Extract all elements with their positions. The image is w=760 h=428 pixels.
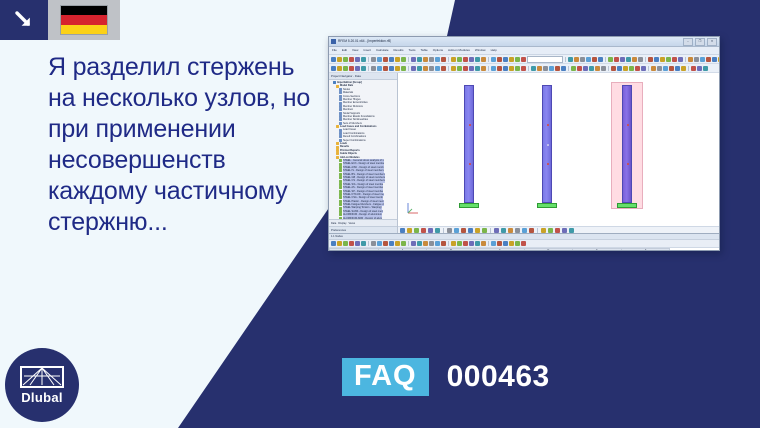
toolbar-icon[interactable]: [355, 57, 360, 62]
toolbar-icon[interactable]: [451, 57, 456, 62]
toolbar-icon[interactable]: [663, 66, 668, 71]
toolbar-icon[interactable]: [349, 241, 354, 246]
col-letter: D: [524, 249, 573, 252]
toolbar-icon[interactable]: [441, 57, 446, 62]
toolbar-icon[interactable]: [660, 57, 665, 62]
col-letter: C: [475, 249, 524, 252]
toolbar-icon[interactable]: [371, 66, 376, 71]
toolbar-icon[interactable]: [337, 57, 342, 62]
toolbar-separator: [368, 57, 369, 62]
german-flag-icon: [60, 5, 108, 35]
toolbar-icon[interactable]: [428, 228, 433, 233]
toolbar-icon[interactable]: [712, 57, 717, 62]
toolbar-icon[interactable]: [577, 66, 582, 71]
toolbar-combo[interactable]: [527, 56, 563, 63]
toolbar-icon[interactable]: [383, 241, 388, 246]
toolbar-icon[interactable]: [469, 66, 474, 71]
rc-icon: [339, 135, 342, 138]
main-toolbar[interactable]: [329, 55, 719, 64]
toolbar-icon[interactable]: [574, 57, 579, 62]
navigator-tab-display[interactable]: Display: [338, 222, 346, 225]
toolbar-icon[interactable]: [623, 66, 628, 71]
close-button[interactable]: ✕: [707, 38, 717, 46]
menu-item-file[interactable]: File: [332, 47, 337, 54]
toolbar-icon[interactable]: [626, 57, 631, 62]
toolbar-icon[interactable]: [441, 66, 446, 71]
minimize-button[interactable]: –: [683, 38, 693, 46]
toolbar-separator: [608, 66, 609, 71]
toolbar-separator: [368, 66, 369, 71]
node-marker: [627, 124, 629, 126]
toolbar-icon[interactable]: [651, 66, 656, 71]
toolbar-icon[interactable]: [509, 57, 514, 62]
module-icon: [339, 169, 342, 172]
toolbar-icon[interactable]: [411, 66, 416, 71]
toolbar-icon[interactable]: [703, 66, 708, 71]
toolbar-separator: [488, 57, 489, 62]
toolbar-icon[interactable]: [617, 66, 622, 71]
navigator-tab-data[interactable]: Data: [331, 222, 336, 225]
toolbar-icon[interactable]: [503, 57, 508, 62]
toolbar-icon[interactable]: [463, 66, 468, 71]
toolbar-icon[interactable]: [672, 57, 677, 62]
toolbar-icon[interactable]: [543, 66, 548, 71]
toolbar-separator: [408, 66, 409, 71]
toolbar-icon[interactable]: [611, 66, 616, 71]
toolbar-icon[interactable]: [411, 57, 416, 62]
toolbar-icon[interactable]: [361, 241, 366, 246]
toolbar-icon[interactable]: [377, 57, 382, 62]
module-icon: [339, 186, 342, 189]
toolbar-icon[interactable]: [481, 57, 486, 62]
toolbar-icon[interactable]: [654, 57, 659, 62]
toolbar-icon[interactable]: [401, 66, 406, 71]
toolbar-icon[interactable]: [522, 228, 527, 233]
toolbar-separator: [448, 57, 449, 62]
toolbar-icon[interactable]: [475, 228, 480, 233]
toolbar-separator: [648, 66, 649, 71]
folder-icon: [336, 125, 339, 128]
column-member-3[interactable]: [622, 85, 637, 208]
toolbar-icon[interactable]: [515, 228, 520, 233]
toolbar-icon[interactable]: [337, 241, 342, 246]
toolbar-icon[interactable]: [666, 57, 671, 62]
toolbar-icon[interactable]: [503, 66, 508, 71]
toolbar-icon[interactable]: [343, 241, 348, 246]
view-toolbar[interactable]: [398, 226, 719, 233]
nodes-table[interactable]: ABCDEFNode No.Reference NodeCoordinate S…: [329, 248, 719, 251]
toolbar-icon[interactable]: [537, 66, 542, 71]
toolbar-icon[interactable]: [441, 241, 446, 246]
toolbar-icon[interactable]: [389, 241, 394, 246]
toolbar-separator: [448, 66, 449, 71]
navigator-tabs[interactable]: DataDisplayViews: [329, 219, 397, 226]
toolbar-icon[interactable]: [697, 66, 702, 71]
toolbar-icon[interactable]: [641, 66, 646, 71]
toolbar-icon[interactable]: [497, 241, 502, 246]
toolbar-icon[interactable]: [429, 57, 434, 62]
toolbar-separator: [565, 57, 566, 62]
menu-item-calculate[interactable]: Calculate: [376, 47, 389, 54]
toolbar-icon[interactable]: [461, 228, 466, 233]
toolbar-icon[interactable]: [435, 57, 440, 62]
toolbar-icon[interactable]: [589, 66, 594, 71]
col-letter: F: [621, 249, 670, 252]
toolbar-icon[interactable]: [569, 228, 574, 233]
toolbar-icon[interactable]: [447, 228, 452, 233]
dlubal-frame-icon: [20, 366, 64, 388]
toolbar-icon[interactable]: [681, 66, 686, 71]
toolbar-icon[interactable]: [669, 66, 674, 71]
toolbar-icon[interactable]: [614, 57, 619, 62]
toolbar-icon[interactable]: [331, 66, 336, 71]
toolbar-icon[interactable]: [509, 241, 514, 246]
toolbar-icon[interactable]: [377, 241, 382, 246]
faq-badge: FAQ: [342, 358, 429, 396]
toolbar-icon[interactable]: [343, 66, 348, 71]
toolbar-separator: [490, 228, 491, 233]
toolbar-icon[interactable]: [555, 66, 560, 71]
toolbar-separator: [408, 241, 409, 246]
toolbar-icon[interactable]: [475, 241, 480, 246]
toolbar-icon[interactable]: [469, 241, 474, 246]
col-letter: [330, 249, 379, 252]
toolbar-icon[interactable]: [491, 241, 496, 246]
arrow-down-right-icon[interactable]: [0, 0, 48, 40]
toolbar-separator: [443, 228, 444, 233]
toolbar-icon[interactable]: [389, 57, 394, 62]
toolbar-icon[interactable]: [481, 66, 486, 71]
toolbar-icon[interactable]: [417, 57, 422, 62]
toolbar-icon[interactable]: [463, 241, 468, 246]
module-icon: [339, 159, 342, 162]
toolbar-icon[interactable]: [361, 66, 366, 71]
node-marker: [547, 163, 549, 165]
slide-canvas: Я разделил стержень на несколько узлов, …: [0, 0, 760, 428]
toolbar-icon[interactable]: [429, 241, 434, 246]
dlubal-logo: Dlubal: [5, 348, 79, 422]
toolbar-icon[interactable]: [629, 66, 634, 71]
toolbar-icon[interactable]: [331, 241, 336, 246]
toolbar-icon[interactable]: [515, 57, 520, 62]
toolbar-icon[interactable]: [571, 66, 576, 71]
member-icon: [339, 108, 342, 111]
window-body: Project Navigator - Data Imperfektion [G…: [329, 73, 719, 233]
faq-number: 000463: [447, 360, 550, 394]
toolbar-icon[interactable]: [718, 57, 719, 62]
toolbar-icon[interactable]: [521, 57, 526, 62]
toolbar-icon[interactable]: [675, 66, 680, 71]
toolbar-icon[interactable]: [429, 66, 434, 71]
toolbar-icon[interactable]: [515, 66, 520, 71]
node-marker: [547, 124, 549, 126]
toolbar-icon[interactable]: [688, 57, 693, 62]
column-member-1[interactable]: [464, 85, 479, 208]
member-shaft[interactable]: [622, 85, 632, 203]
toolbar-icon[interactable]: [555, 228, 560, 233]
table-column-letters: ABCDEF: [330, 249, 719, 252]
node-marker: [469, 124, 471, 126]
toolbar-icon[interactable]: [620, 57, 625, 62]
toolbar-icon[interactable]: [457, 57, 462, 62]
toolbar-icon[interactable]: [435, 66, 440, 71]
page-title: Я разделил стержень на несколько узлов, …: [48, 52, 316, 238]
menu-item-insert[interactable]: Insert: [363, 47, 371, 54]
language-flag-button[interactable]: [48, 0, 120, 40]
toolbar-icon[interactable]: [468, 228, 473, 233]
toolbar-icon[interactable]: [331, 57, 336, 62]
toolbar-separator: [488, 241, 489, 246]
toolbar-separator: [408, 57, 409, 62]
toolbar-icon[interactable]: [657, 66, 662, 71]
toolbar-icon[interactable]: [400, 228, 405, 233]
toolbar-icon[interactable]: [494, 228, 499, 233]
node-marker: [627, 163, 629, 165]
nodal-support[interactable]: [617, 203, 637, 208]
toolbar-icon[interactable]: [407, 228, 412, 233]
toolbar-separator: [448, 241, 449, 246]
toolbar-icon[interactable]: [383, 57, 388, 62]
toolbar-icon[interactable]: [586, 57, 591, 62]
toolbar-icon[interactable]: [706, 57, 711, 62]
menu-item-options[interactable]: Options: [433, 47, 443, 54]
toolbar-icon[interactable]: [401, 241, 406, 246]
material-icon: [339, 91, 342, 94]
toolbar-icon[interactable]: [469, 57, 474, 62]
toolbar-separator: [488, 66, 489, 71]
module-icon: [339, 176, 342, 179]
toolbar-icon[interactable]: [349, 57, 354, 62]
toolbar-icon[interactable]: [508, 228, 513, 233]
toolbar-icon[interactable]: [451, 66, 456, 71]
app-icon: [331, 39, 336, 44]
dlubal-wordmark: Dlubal: [21, 390, 63, 405]
toolbar-icon[interactable]: [583, 66, 588, 71]
toolbar-separator: [685, 57, 686, 62]
toolbar-icon[interactable]: [632, 57, 637, 62]
toolbar-icon[interactable]: [515, 241, 520, 246]
toolbar-icon[interactable]: [435, 241, 440, 246]
project-navigator[interactable]: Project Navigator - Data Imperfektion [G…: [329, 73, 398, 233]
toolbar-icon[interactable]: [423, 241, 428, 246]
toolbar-icon[interactable]: [401, 57, 406, 62]
col-letter: E: [573, 249, 622, 252]
maximize-button[interactable]: ❐: [695, 38, 705, 46]
toolbar-icon[interactable]: [463, 57, 468, 62]
window-title: RFEM 5.20.01 x64 - [Imperfektion.rf5]: [338, 39, 391, 44]
toolbar-icon[interactable]: [482, 228, 487, 233]
menu-item-results[interactable]: Results: [394, 47, 404, 54]
toolbar-icon[interactable]: [568, 57, 573, 62]
toolbar-icon[interactable]: [361, 57, 366, 62]
coordinate-axis-icon: [406, 201, 420, 215]
toolbar-icon[interactable]: [638, 57, 643, 62]
navigator-tree[interactable]: Imperfektion [Group]Model DataNodesMater…: [329, 80, 397, 219]
member-shaft[interactable]: [542, 85, 552, 203]
toolbar-icon[interactable]: [521, 66, 526, 71]
toolbar-icon[interactable]: [435, 228, 440, 233]
toolbar-icon[interactable]: [635, 66, 640, 71]
window-titlebar[interactable]: RFEM 5.20.01 x64 - [Imperfektion.rf5] – …: [329, 37, 719, 47]
toolbar-icon[interactable]: [595, 66, 600, 71]
toolbar-icon[interactable]: [497, 66, 502, 71]
toolbar-icon[interactable]: [421, 228, 426, 233]
nodal-support[interactable]: [537, 203, 557, 208]
toolbar-icon[interactable]: [414, 228, 419, 233]
toolbar-separator: [537, 228, 538, 233]
node-marker: [547, 144, 549, 146]
toolbar-icon[interactable]: [648, 57, 653, 62]
node-marker: [469, 163, 471, 165]
table-toolbar[interactable]: [329, 240, 719, 248]
module-icon: [339, 213, 342, 216]
hinge-icon: [339, 98, 342, 101]
member-shaft[interactable]: [464, 85, 474, 203]
menu-item-add-on-modules[interactable]: Add-on Modules: [448, 47, 470, 54]
toolbar-icon[interactable]: [481, 241, 486, 246]
toolbar-icon[interactable]: [343, 57, 348, 62]
col-letter: A: [378, 249, 427, 252]
toolbar-icon[interactable]: [521, 241, 526, 246]
menu-bar[interactable]: FileEditViewInsertCalculateResultsToolsT…: [329, 47, 719, 55]
toolbar-icon[interactable]: [417, 241, 422, 246]
toolbar-icon[interactable]: [423, 57, 428, 62]
toolbar-icon[interactable]: [700, 57, 705, 62]
menu-item-window[interactable]: Window: [475, 47, 486, 54]
toolbar-icon[interactable]: [423, 66, 428, 71]
col-letter: B: [427, 249, 476, 252]
toolbar-icon[interactable]: [457, 241, 462, 246]
rfem-application-window[interactable]: RFEM 5.20.01 x64 - [Imperfektion.rf5] – …: [328, 36, 720, 251]
toolbar-icon[interactable]: [529, 228, 534, 233]
toolbar-separator: [528, 66, 529, 71]
toolbar-separator: [688, 66, 689, 71]
window-controls[interactable]: – ❐ ✕: [683, 38, 717, 46]
toolbar-icon[interactable]: [509, 66, 514, 71]
model-3d-view[interactable]: [398, 73, 719, 233]
toolbar-icon[interactable]: [503, 241, 508, 246]
toolbar-icon[interactable]: [355, 241, 360, 246]
toolbar-icon[interactable]: [454, 228, 459, 233]
toolbar-icon[interactable]: [383, 66, 388, 71]
toolbar-icon[interactable]: [389, 66, 394, 71]
toolbar-icon[interactable]: [451, 241, 456, 246]
secondary-toolbar[interactable]: [329, 64, 719, 73]
project-icon: [333, 81, 336, 84]
toolbar-icon[interactable]: [580, 57, 585, 62]
toolbar-icon[interactable]: [694, 57, 699, 62]
menu-item-view[interactable]: View: [352, 47, 358, 54]
toolbar-icon[interactable]: [549, 66, 554, 71]
toolbar-icon[interactable]: [592, 57, 597, 62]
toolbar-icon[interactable]: [501, 228, 506, 233]
menu-item-edit[interactable]: Edit: [342, 47, 347, 54]
toolbar-icon[interactable]: [395, 57, 400, 62]
module-icon: [339, 203, 342, 206]
language-bar: [0, 0, 120, 40]
toolbar-icon[interactable]: [417, 66, 422, 71]
toolbar-separator: [605, 57, 606, 62]
faq-identifier: FAQ 000463: [342, 358, 550, 396]
toolbar-separator: [645, 57, 646, 62]
toolbar-icon[interactable]: [598, 57, 603, 62]
navigator-tab-views[interactable]: Views: [348, 222, 355, 225]
toolbar-icon[interactable]: [548, 228, 553, 233]
toolbar-icon[interactable]: [531, 66, 536, 71]
toolbar-icon[interactable]: [541, 228, 546, 233]
toolbar-icon[interactable]: [475, 57, 480, 62]
folder-icon: [336, 152, 339, 155]
toolbar-icon[interactable]: [337, 66, 342, 71]
toolbar-icon[interactable]: [349, 66, 354, 71]
toolbar-icon[interactable]: [497, 57, 502, 62]
toolbar-separator: [568, 66, 569, 71]
column-member-2[interactable]: [542, 85, 557, 208]
toolbar-icon[interactable]: [491, 66, 496, 71]
toolbar-icon[interactable]: [562, 228, 567, 233]
nodal-support[interactable]: [459, 203, 479, 208]
toolbar-icon[interactable]: [371, 57, 376, 62]
toolbar-icon[interactable]: [371, 241, 376, 246]
table-panel[interactable]: 1.1 Nodes ABCDEFNode No.Reference NodeCo…: [329, 233, 719, 251]
toolbar-icon[interactable]: [411, 241, 416, 246]
toolbar-icon[interactable]: [395, 66, 400, 71]
menu-item-help[interactable]: Help: [491, 47, 497, 54]
toolbar-icon[interactable]: [691, 66, 696, 71]
navigator-status: Preferences: [329, 226, 397, 233]
folder-icon: [336, 142, 339, 145]
toolbar-separator: [368, 241, 369, 246]
toolbar-icon[interactable]: [475, 66, 480, 71]
toolbar-icon[interactable]: [491, 57, 496, 62]
toolbar-icon[interactable]: [355, 66, 360, 71]
navigator-header: Project Navigator - Data: [329, 73, 397, 80]
menu-item-tools[interactable]: Tools: [409, 47, 416, 54]
toolbar-icon[interactable]: [395, 241, 400, 246]
toolbar-icon[interactable]: [608, 57, 613, 62]
menu-item-table[interactable]: Table: [421, 47, 428, 54]
toolbar-icon[interactable]: [377, 66, 382, 71]
toolbar-icon[interactable]: [601, 66, 606, 71]
toolbar-icon[interactable]: [678, 57, 683, 62]
toolbar-icon[interactable]: [561, 66, 566, 71]
toolbar-icon[interactable]: [457, 66, 462, 71]
